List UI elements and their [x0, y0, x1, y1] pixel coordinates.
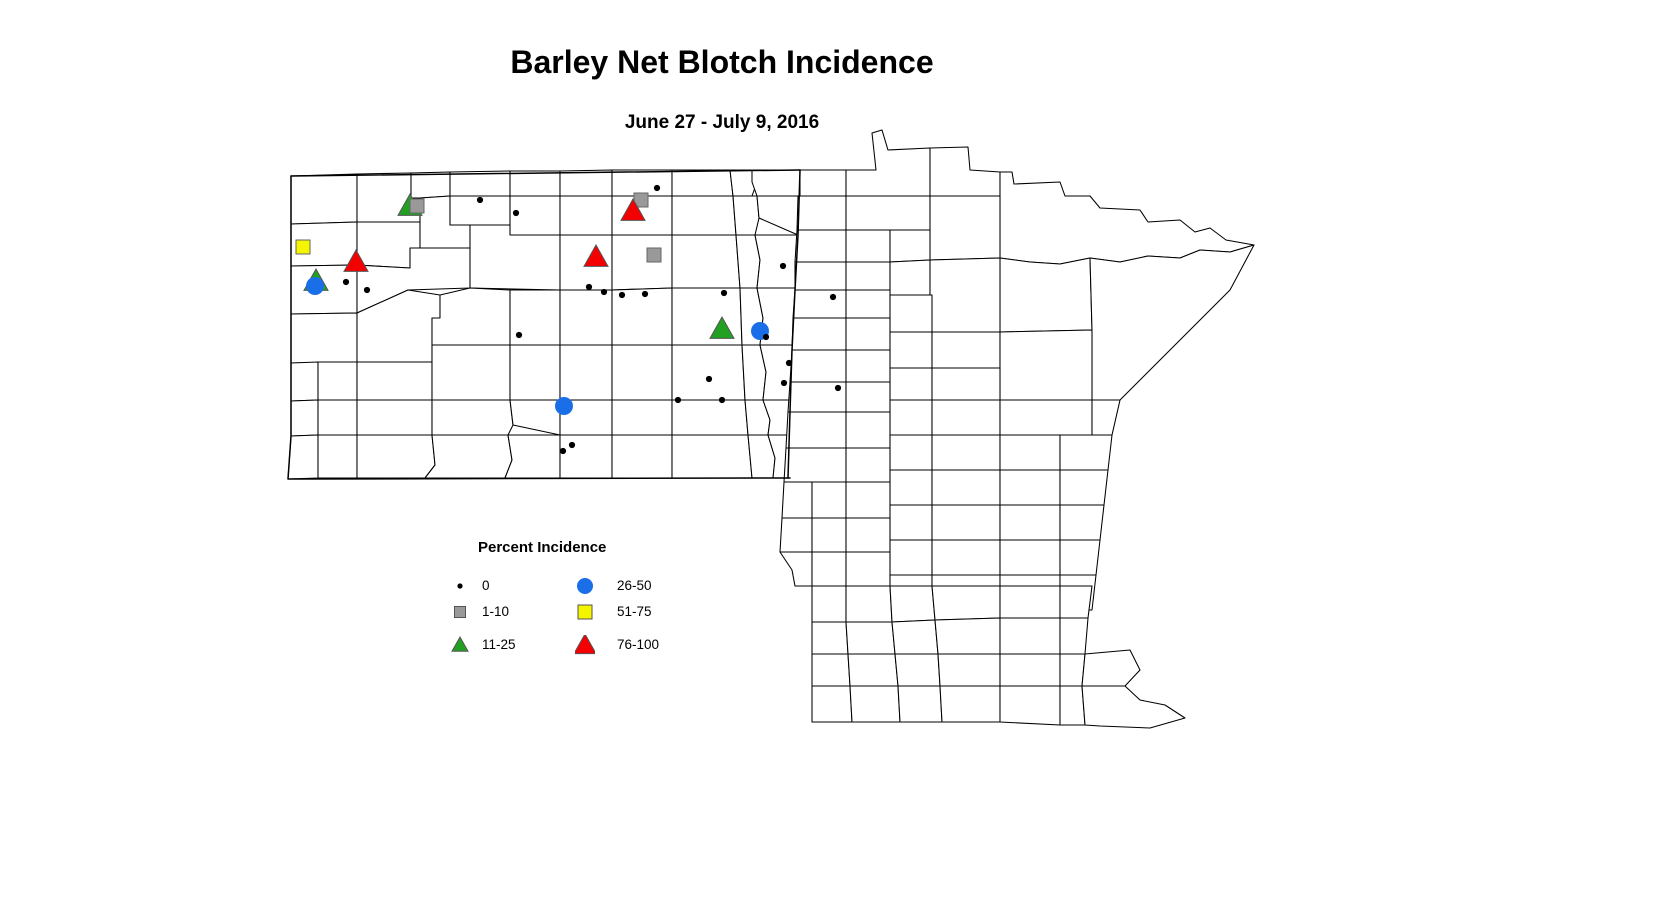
- map-marker-circle: [306, 277, 324, 295]
- map-marker-dot: [780, 263, 786, 269]
- map-marker-dot: [675, 397, 681, 403]
- map-marker-dot: [835, 385, 841, 391]
- map-marker-square: [296, 240, 310, 254]
- map-marker-dot: [586, 284, 592, 290]
- map-marker-dot: [830, 294, 836, 300]
- map-marker-dot: [569, 442, 575, 448]
- map-page: Barley Net Blotch Incidence June 27 - Ju…: [0, 0, 1673, 900]
- map-marker-square: [647, 248, 661, 262]
- legend-label-1-10: 1-10: [482, 604, 509, 619]
- map-marker-dot: [343, 279, 349, 285]
- legend-symbol-1-10: [450, 602, 470, 622]
- legend-label-26-50: 26-50: [617, 578, 652, 593]
- map-marker-dot: [786, 360, 792, 366]
- legend-symbol-11-25: [450, 635, 470, 655]
- legend-symbol-76-100: [575, 635, 595, 655]
- map-marker-dot: [601, 289, 607, 295]
- legend-symbol-0: [450, 576, 470, 596]
- legend-label-76-100: 76-100: [617, 637, 659, 652]
- map-marker-dot: [516, 332, 522, 338]
- map-marker-dot: [763, 334, 769, 340]
- map-marker-dot: [364, 287, 370, 293]
- map-marker-dot: [619, 292, 625, 298]
- map-marker-dot: [560, 448, 566, 454]
- map-marker-dot: [721, 290, 727, 296]
- legend-label-51-75: 51-75: [617, 604, 652, 619]
- state-county-map: [0, 0, 1673, 900]
- map-marker-circle: [555, 397, 573, 415]
- legend-symbol-26-50: [575, 576, 595, 596]
- minnesota-counties: [780, 130, 1254, 728]
- map-marker-square: [410, 199, 424, 213]
- map-canvas: [0, 0, 1673, 900]
- map-marker-dot: [642, 291, 648, 297]
- map-marker-dot: [781, 380, 787, 386]
- legend-label-11-25: 11-25: [482, 637, 516, 652]
- map-marker-dot: [513, 210, 519, 216]
- map-marker-dot: [477, 197, 483, 203]
- legend-label-0: 0: [482, 578, 490, 593]
- legend-symbol-51-75: [575, 602, 595, 622]
- map-marker-dot: [719, 397, 725, 403]
- map-marker-dot: [654, 185, 660, 191]
- map-marker-dot: [706, 376, 712, 382]
- legend-title: Percent Incidence: [478, 539, 606, 556]
